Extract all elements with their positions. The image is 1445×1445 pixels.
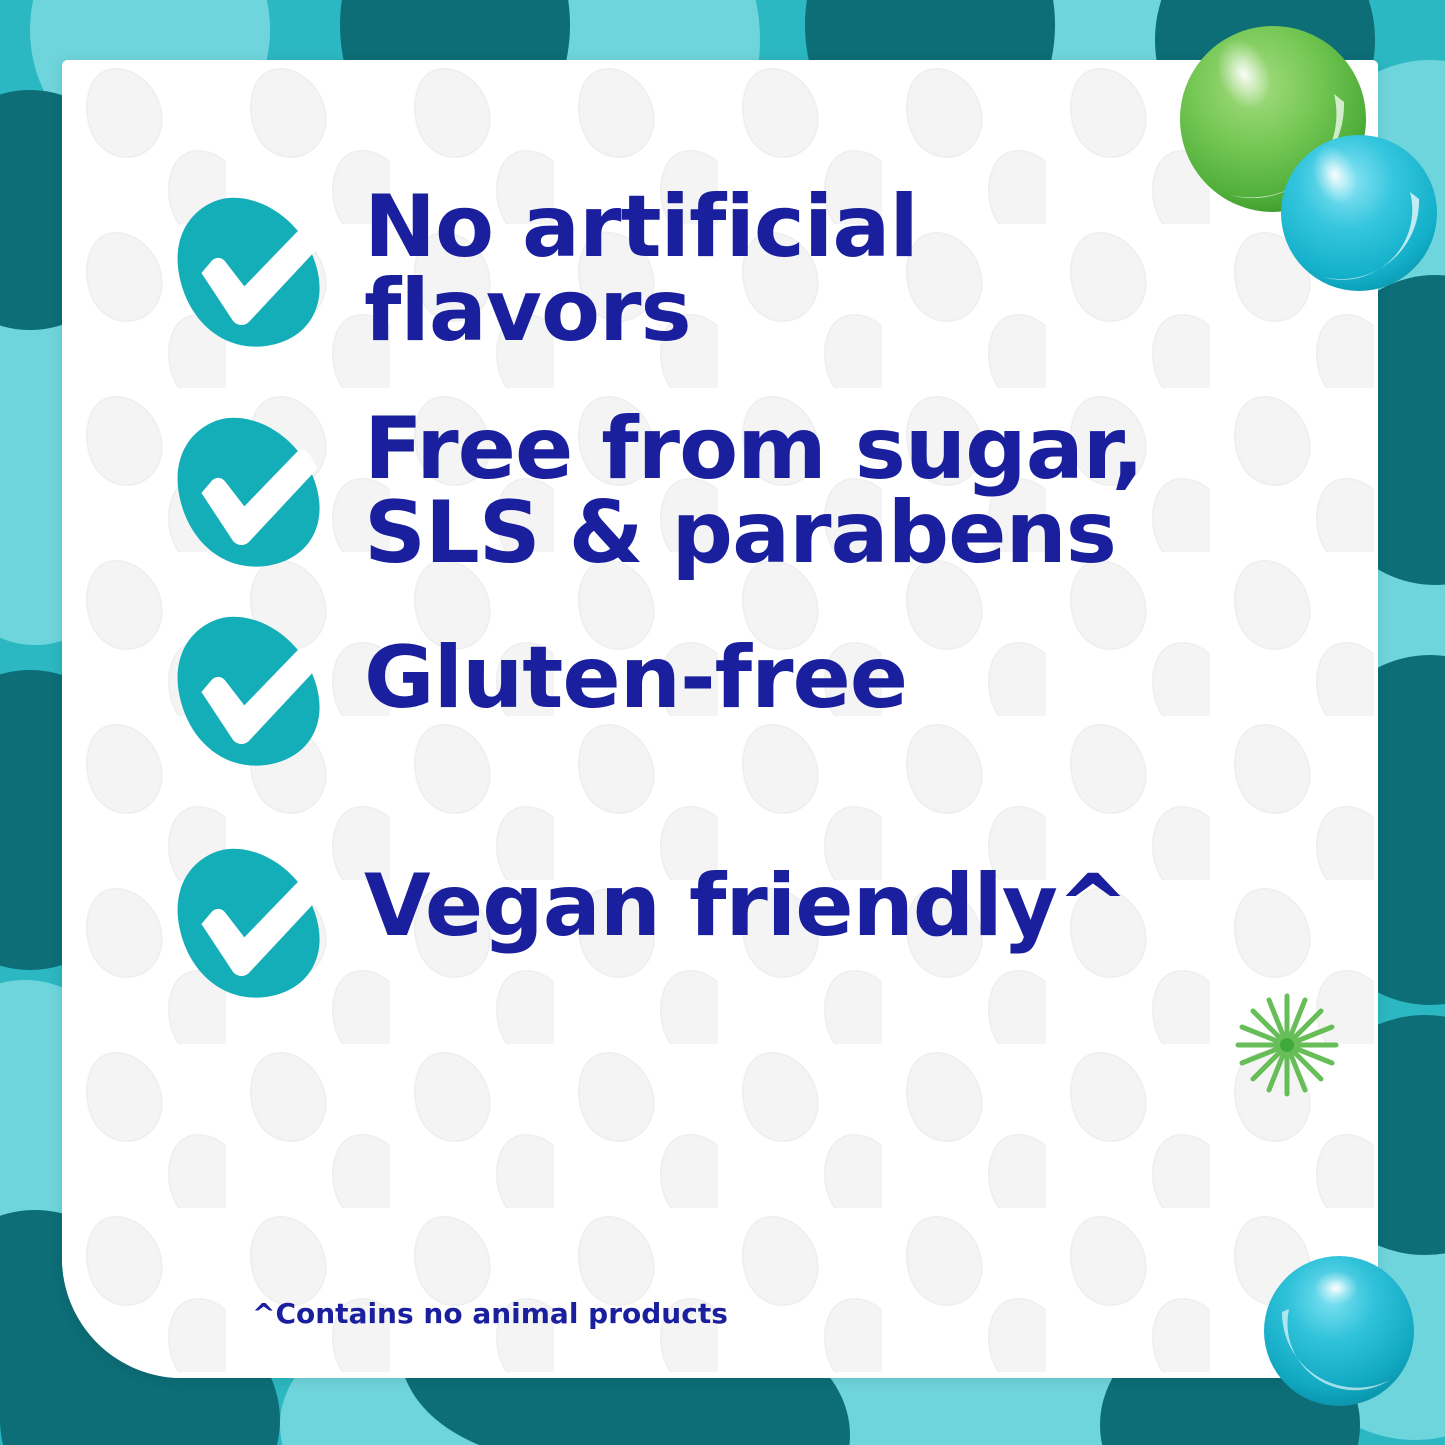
benefit-label: Gluten-free [364, 608, 907, 720]
cyan-glossy-sphere-icon [1279, 133, 1439, 293]
benefit-row-gluten-free: Gluten-free [170, 608, 1378, 774]
benefit-row-vegan-friendly: Vegan friendly^ [170, 836, 1378, 1006]
green-starburst-sparkle-icon [1222, 980, 1352, 1110]
benefit-label: Vegan friendly^ [364, 836, 1128, 948]
check-icon-glyph [170, 844, 332, 1006]
footnote-text: ^Contains no animal products [252, 1297, 728, 1330]
check-icon-glyph [170, 413, 332, 575]
check-icon [170, 413, 332, 575]
check-icon [170, 193, 332, 355]
check-icon [170, 844, 332, 1006]
cyan-glossy-sphere-icon [1262, 1254, 1417, 1409]
content-card: No artificial flavors Free from sugar, S… [62, 60, 1378, 1378]
benefit-row-free-from-sugar-sls-parabens: Free from sugar, SLS & parabens [170, 397, 1378, 576]
product-benefits-graphic: No artificial flavors Free from sugar, S… [0, 0, 1445, 1445]
check-icon-glyph [170, 612, 332, 774]
check-icon [170, 612, 332, 774]
benefits-list: No artificial flavors Free from sugar, S… [170, 175, 1378, 1006]
check-icon-glyph [170, 193, 332, 355]
benefit-label: No artificial flavors [364, 175, 918, 354]
benefit-label: Free from sugar, SLS & parabens [364, 397, 1143, 576]
